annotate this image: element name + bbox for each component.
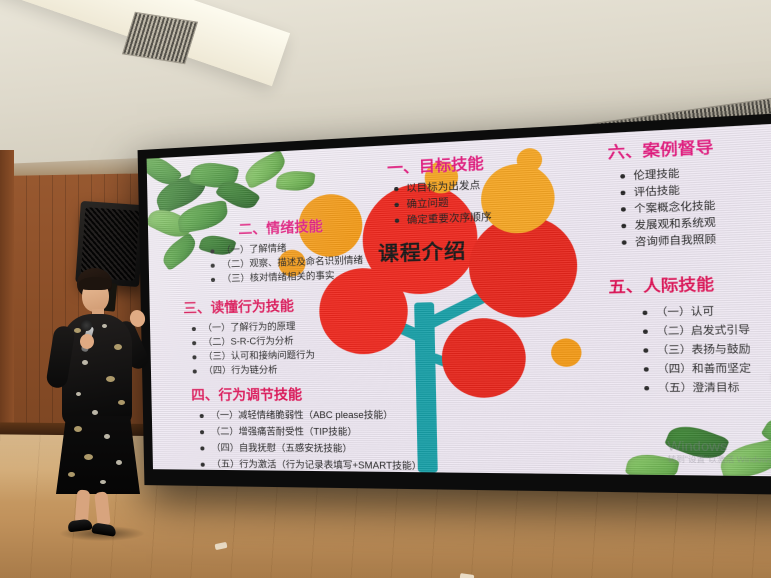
section-six-item: 个案概念化技能 — [621, 201, 716, 216]
section-three-item: （一）了解行为的原理 — [192, 322, 296, 334]
section-two-heading: 二、情绪技能 — [238, 220, 323, 238]
presenter-left-hand — [80, 334, 94, 349]
section-three-heading: 三、读懂行为技能 — [183, 299, 294, 316]
tree-trunk — [414, 302, 438, 472]
section-five-item: （三）表扬与鼓励 — [643, 345, 750, 358]
section-three-item: （四）行为链分析 — [193, 366, 278, 377]
presenter-skirt — [56, 416, 140, 494]
section-five-item: （一）认可 — [642, 307, 714, 320]
section-two-item: （一）了解情绪 — [210, 244, 286, 256]
section-five-item: （二）启发式引导 — [643, 325, 750, 338]
watermark-line-1: Windows — [667, 437, 771, 456]
section-six-item: 发展观和系统观 — [621, 218, 716, 233]
section-three-item: （三）认可和接纳问题行为 — [192, 351, 315, 362]
section-one-heading: 一、目标技能 — [387, 157, 484, 178]
section-three-item: （二）S-R-C行为分析 — [192, 336, 294, 347]
wall-corner — [0, 150, 14, 440]
section-six-item: 评估技能 — [621, 186, 681, 200]
tree-foliage-blob — [441, 317, 527, 397]
section-four-item: （一）减轻情绪脆弱性（ABC please技能） — [200, 411, 394, 421]
section-five-item: （四）和善而坚定 — [644, 364, 751, 376]
lecture-hall-photo: 课程介绍 一、目标技能 以目标为出发点 确立问题 确定重要次序顺序 六、案例督导… — [0, 0, 771, 578]
section-four-item: （二）增强痛苦耐受性（TIP技能） — [200, 427, 357, 437]
section-six-heading: 六、案例督导 — [608, 141, 714, 163]
windows-activation-watermark: Windows 转到"设置"以激活 Windows。 — [667, 437, 771, 467]
microphone-head-icon — [81, 320, 92, 331]
section-two-item: （三）核对情绪相关的事实 — [211, 271, 335, 284]
section-four-item: （五）行为激活（行为记录表填写+SMART技能） — [201, 460, 422, 472]
section-four-heading: 四、行为调节技能 — [191, 388, 302, 403]
watermark-line-2: 转到"设置"以激活 Windows。 — [668, 455, 771, 467]
presentation-slide: 课程介绍 一、目标技能 以目标为出发点 确立问题 确定重要次序顺序 六、案例督导… — [147, 120, 771, 477]
section-six-item: 咨询师自我照顾 — [622, 235, 717, 249]
presenter-leg — [94, 491, 110, 526]
section-one-item: 确立问题 — [394, 198, 448, 211]
section-six-item: 伦理技能 — [620, 169, 680, 183]
presenter — [38, 268, 150, 536]
tree-foliage-blob — [551, 338, 582, 367]
presenter-fringe — [79, 277, 111, 290]
section-five-item: （五）澄清目标 — [644, 383, 740, 395]
section-one-item: 确定重要次序顺序 — [395, 213, 492, 228]
led-screen-bezel: 课程介绍 一、目标技能 以目标为出发点 确立问题 确定重要次序顺序 六、案例督导… — [138, 109, 771, 496]
floor-debris — [460, 573, 475, 578]
slide-center-title: 课程介绍 — [378, 235, 467, 267]
section-one-item: 以目标为出发点 — [394, 181, 480, 196]
section-five-heading: 五、人际技能 — [608, 278, 714, 298]
section-four-item: （四）自我抚慰（五感安抚技能） — [200, 443, 352, 454]
